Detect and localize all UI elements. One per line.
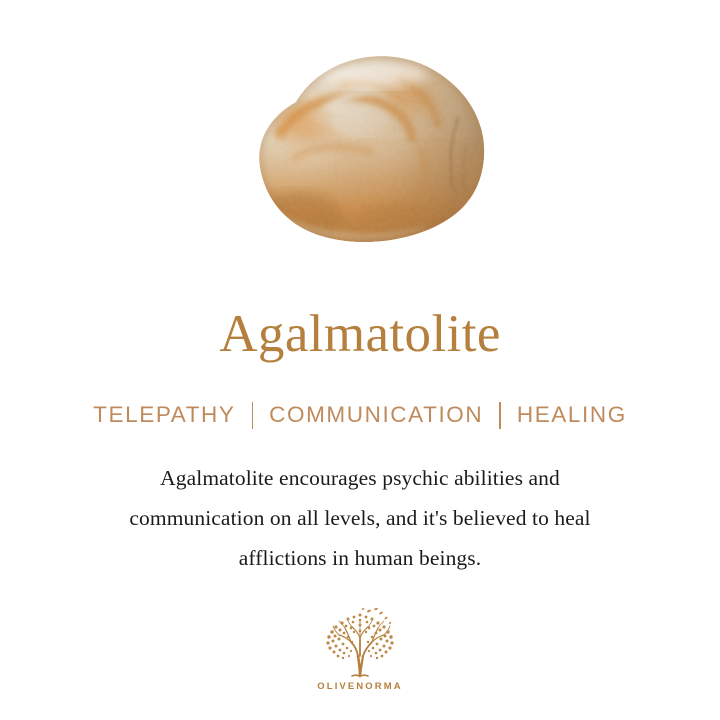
brand-name: OLIVENORMA [317,681,402,692]
product-description: Agalmatolite encourages psychic abilitie… [50,458,670,578]
brand-logo: OLIVENORMA [0,606,720,692]
stone-image [252,50,488,246]
keyword-healing: HEALING [517,400,627,430]
keyword-separator-2 [499,402,501,429]
crystal-info-card: Agalmatolite TELEPATHY COMMUNICATION HEA… [0,0,720,720]
page-title: Agalmatolite [0,303,720,365]
agalmatolite-stone-illustration [252,50,488,246]
olive-tree-icon [317,606,403,678]
keyword-list: TELEPATHY COMMUNICATION HEALING [0,400,720,430]
description-line-3: afflictions in human beings. [50,538,670,578]
keyword-communication: COMMUNICATION [269,400,483,430]
description-line-2: communication on all levels, and it's be… [50,498,670,538]
keyword-separator-1 [252,402,254,429]
stone-body [252,50,488,246]
description-line-1: Agalmatolite encourages psychic abilitie… [50,458,670,498]
keyword-telepathy: TELEPATHY [93,400,235,430]
